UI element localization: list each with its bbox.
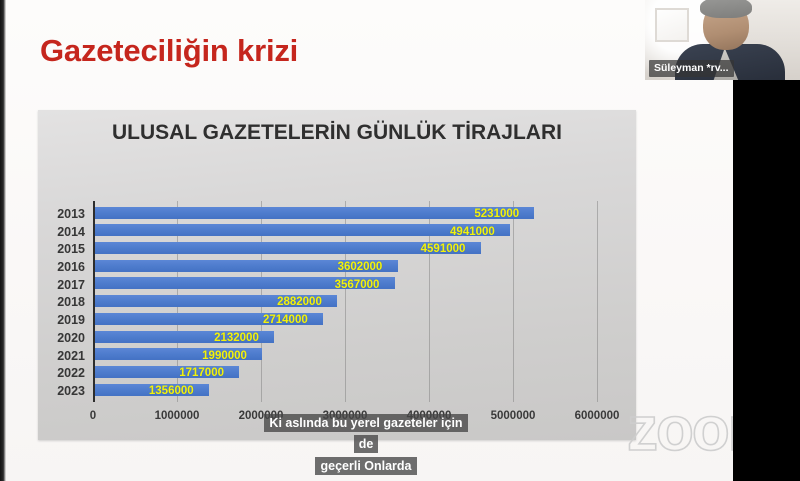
zoom-black-panel-right bbox=[733, 80, 800, 481]
chart-bar-row: 20163602000 bbox=[93, 258, 597, 276]
zoom-screenshare-screen: Gazeteciliğin krizi ULUSAL GAZETELERİN G… bbox=[0, 0, 800, 481]
page-title: Gazeteciliğin krizi bbox=[40, 33, 298, 69]
chart-bar-row: 20182882000 bbox=[93, 294, 597, 312]
participant-video-tile[interactable]: Süleyman *rv... bbox=[645, 0, 800, 80]
bar-value-label: 5231000 bbox=[474, 208, 519, 220]
caption-line: Ki aslında bu yerel gazeteler için de bbox=[258, 412, 474, 454]
x-axis-tick-label: 0 bbox=[90, 410, 96, 422]
gridline bbox=[597, 201, 598, 402]
bar-value-label: 4591000 bbox=[421, 243, 466, 255]
chart-bar-row: 20202132000 bbox=[93, 329, 597, 347]
chart-panel: ULUSAL GAZETELERİN GÜNLÜK TİRAJLARI 2013… bbox=[38, 110, 636, 440]
caption-line: geçerli Onlarda bbox=[258, 455, 474, 476]
participant-hair bbox=[700, 0, 752, 18]
bar-category-label: 2022 bbox=[57, 366, 85, 380]
bar-value-label: 3602000 bbox=[338, 261, 383, 273]
chart-title: ULUSAL GAZETELERİN GÜNLÜK TİRAJLARI bbox=[38, 120, 636, 147]
caption-text: geçerli Onlarda bbox=[315, 457, 416, 475]
live-caption: Ki aslında bu yerel gazeteler için degeç… bbox=[258, 412, 474, 477]
chart-bar-row: 20173567000 bbox=[93, 276, 597, 294]
bar-category-label: 2016 bbox=[57, 260, 85, 274]
video-window-shape bbox=[655, 8, 689, 42]
bar-value-label: 3567000 bbox=[335, 279, 380, 291]
caption-text: Ki aslında bu yerel gazeteler için de bbox=[264, 414, 467, 453]
bar-category-label: 2013 bbox=[57, 207, 85, 221]
chart-bar-row: 20221717000 bbox=[93, 365, 597, 383]
slide-left-edge bbox=[0, 0, 6, 481]
bar-value-label: 1356000 bbox=[149, 385, 194, 397]
bar-category-label: 2019 bbox=[57, 313, 85, 327]
bar-value-label: 1717000 bbox=[179, 367, 224, 379]
chart-bar-row: 20144941000 bbox=[93, 223, 597, 241]
x-axis-tick-label: 5000000 bbox=[491, 410, 536, 422]
bar-value-label: 2132000 bbox=[214, 332, 259, 344]
x-axis-tick-label: 1000000 bbox=[155, 410, 200, 422]
bar-value-label: 2714000 bbox=[263, 314, 308, 326]
participant-name-badge: Süleyman *rv... bbox=[649, 60, 734, 77]
chart-bar-row: 20231356000 bbox=[93, 382, 597, 400]
chart-bar-row: 20135231000 bbox=[93, 205, 597, 223]
bar-category-label: 2021 bbox=[57, 349, 85, 363]
chart-bar-row: 20211990000 bbox=[93, 347, 597, 365]
x-axis-tick-label: 6000000 bbox=[575, 410, 620, 422]
bar-value-label: 2882000 bbox=[277, 296, 322, 308]
bar-category-label: 2020 bbox=[57, 331, 85, 345]
chart-bar-row: 20192714000 bbox=[93, 311, 597, 329]
bar-category-label: 2023 bbox=[57, 384, 85, 398]
bar-value-label: 1990000 bbox=[202, 350, 247, 362]
chart-bar-row: 20154591000 bbox=[93, 240, 597, 258]
chart-bar bbox=[95, 224, 510, 236]
chart-bar bbox=[95, 207, 534, 219]
bar-category-label: 2014 bbox=[57, 225, 85, 239]
bar-category-label: 2015 bbox=[57, 242, 85, 256]
chart-plot-area: 2013523100020144941000201545910002016360… bbox=[93, 205, 597, 400]
bar-category-label: 2017 bbox=[57, 278, 85, 292]
bar-value-label: 4941000 bbox=[450, 226, 495, 238]
bar-category-label: 2018 bbox=[57, 295, 85, 309]
